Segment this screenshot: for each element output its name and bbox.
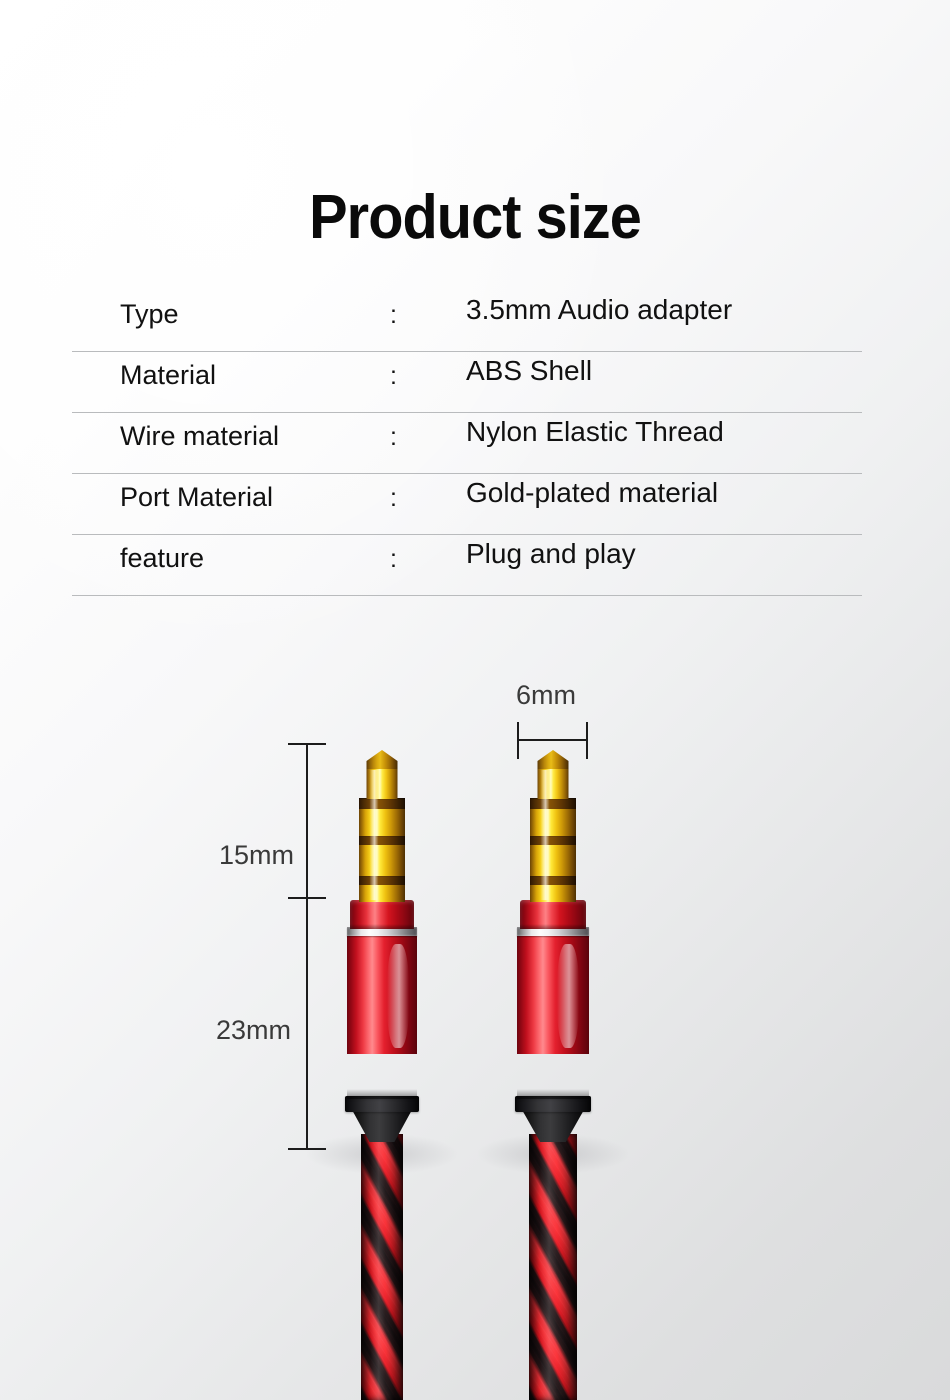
product-size-infographic: Product size Type : 3.5mm Audio adapter …: [0, 0, 950, 1400]
dimension-label-housing-length: 23mm: [216, 1014, 291, 1046]
spec-label: Material: [120, 358, 216, 392]
plug-insulator-ring-2: [359, 835, 405, 845]
specification-table: Type : 3.5mm Audio adapter Material : AB…: [72, 291, 862, 596]
table-row: Type : 3.5mm Audio adapter: [72, 291, 862, 352]
plug-shaft-lower: [359, 884, 405, 902]
spec-separator: :: [390, 482, 397, 514]
connector-collar: [520, 900, 586, 929]
plug-tip-shaft: [367, 767, 398, 799]
plug-tip-cone: [538, 750, 569, 769]
dimension-tick-top: [288, 743, 326, 745]
plug-tip-cone: [367, 750, 398, 769]
dimension-tick-bottom: [288, 1148, 326, 1150]
boot-body: [347, 1051, 417, 1099]
spec-label: Port Material: [120, 480, 273, 514]
spec-label: Wire material: [120, 419, 279, 453]
dimension-label-connector-width: 6mm: [516, 679, 576, 711]
spec-separator: :: [390, 299, 397, 331]
audio-connector-left: [282, 744, 482, 1400]
connector-collar: [350, 900, 414, 929]
dimension-line-vertical: [306, 744, 308, 1150]
connector-barrel: [517, 936, 589, 1054]
dimension-label-plug-length: 15mm: [219, 839, 294, 871]
table-row: Wire material : Nylon Elastic Thread: [72, 413, 862, 474]
plug-insulator-ring-2: [530, 835, 576, 845]
page-title: Product size: [33, 183, 917, 253]
table-row: feature : Plug and play: [72, 535, 862, 596]
plug-tip-shaft: [538, 767, 569, 799]
table-row: Material : ABS Shell: [72, 352, 862, 413]
spec-value: Gold-plated material: [466, 476, 718, 510]
plug-shaft-mid: [530, 844, 576, 876]
spec-label: feature: [120, 541, 204, 575]
spec-value: ABS Shell: [466, 354, 592, 388]
braided-cable: [529, 1134, 577, 1400]
spec-value: Nylon Elastic Thread: [466, 415, 724, 449]
plug-insulator-ring-1: [359, 798, 405, 809]
connector-barrel: [347, 936, 417, 1054]
boot-body: [517, 1051, 589, 1099]
table-row: Port Material : Gold-plated material: [72, 474, 862, 535]
audio-connector-right: [453, 744, 653, 1400]
spec-separator: :: [390, 421, 397, 453]
plug-shaft-lower: [530, 884, 576, 902]
dimension-tick-right: [586, 722, 588, 759]
spec-value: Plug and play: [466, 537, 636, 571]
spec-value: 3.5mm Audio adapter: [466, 293, 732, 327]
braided-cable: [361, 1134, 403, 1400]
dimension-line-horizontal: [518, 739, 588, 741]
dimension-tick-left: [517, 722, 519, 759]
dimension-tick-middle: [288, 897, 326, 899]
plug-insulator-ring-3: [359, 875, 405, 885]
spec-separator: :: [390, 360, 397, 392]
plug-shaft-upper: [530, 808, 576, 836]
plug-insulator-ring-1: [530, 798, 576, 809]
plug-insulator-ring-3: [530, 875, 576, 885]
plug-shaft-mid: [359, 844, 405, 876]
spec-separator: :: [390, 543, 397, 575]
plug-shaft-upper: [359, 808, 405, 836]
spec-label: Type: [120, 297, 179, 331]
